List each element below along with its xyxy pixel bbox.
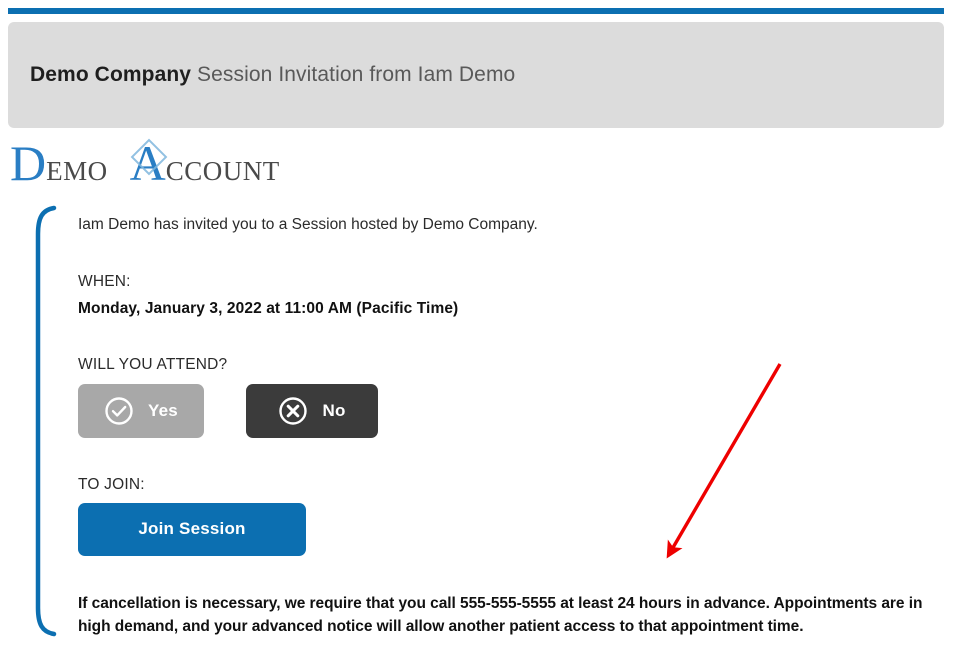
rsvp-no-label: No <box>322 401 345 421</box>
rsvp-no-button[interactable]: No <box>246 384 378 438</box>
header-banner: Demo Company Session Invitation from Iam… <box>8 22 944 128</box>
join-section: TO JOIN: Join Session <box>78 476 938 556</box>
message-content: Iam Demo has invited you to a Session ho… <box>78 216 938 654</box>
logo-rest-emo: EMO <box>46 158 108 185</box>
rsvp-button-row: Yes No <box>78 384 938 438</box>
join-session-button[interactable]: Join Session <box>78 503 306 556</box>
join-label: TO JOIN: <box>78 476 938 494</box>
cancellation-notice: If cancellation is necessary, we require… <box>78 592 930 639</box>
blue-left-rail <box>32 204 58 640</box>
logo-rest-ccount: CCOUNT <box>166 158 280 185</box>
rsvp-yes-button[interactable]: Yes <box>78 384 204 438</box>
logo-cap-d: D <box>10 138 46 188</box>
when-value: Monday, January 3, 2022 at 11:00 AM (Pac… <box>78 300 938 318</box>
email-invitation-page: Demo Company Session Invitation from Iam… <box>0 0 956 655</box>
logo-cap-a: A <box>130 138 166 188</box>
organization-name: Demo Company <box>30 63 191 86</box>
logo-word-demo: DEMO <box>10 138 108 188</box>
attend-label: WILL YOU ATTEND? <box>78 356 938 374</box>
invitation-subject: Session Invitation from Iam Demo <box>191 63 515 86</box>
when-label: WHEN: <box>78 273 938 291</box>
when-section: WHEN: Monday, January 3, 2022 at 11:00 A… <box>78 273 938 318</box>
logo-word-account: ACCOUNT <box>130 138 280 188</box>
circle-check-icon <box>104 396 134 426</box>
brand-logo: DEMO ACCOUNT <box>10 138 280 194</box>
attend-section: WILL YOU ATTEND? Yes <box>78 356 938 438</box>
rsvp-yes-label: Yes <box>148 401 178 421</box>
page-title: Demo Company Session Invitation from Iam… <box>8 63 515 87</box>
message-body-block: Iam Demo has invited you to a Session ho… <box>32 204 944 640</box>
top-accent-rule <box>8 8 944 14</box>
circle-x-icon <box>278 396 308 426</box>
intro-text: Iam Demo has invited you to a Session ho… <box>78 216 938 235</box>
